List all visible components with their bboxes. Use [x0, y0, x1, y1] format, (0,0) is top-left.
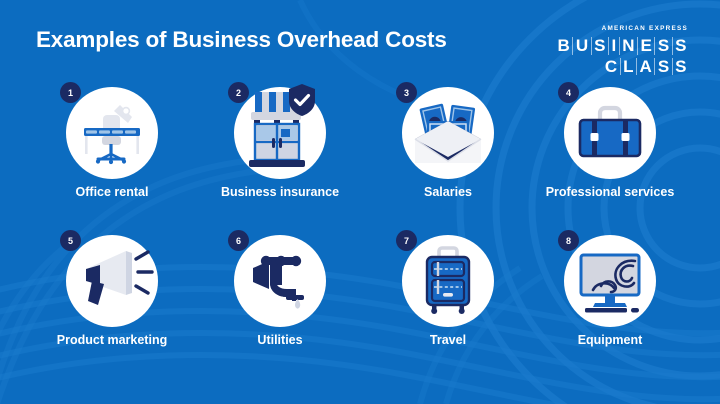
logo-letter: S: [654, 58, 671, 75]
logo-letter: B: [555, 37, 573, 54]
item-utilities: 6 Utilities: [190, 232, 370, 380]
item-label: Utilities: [190, 333, 370, 348]
item-label: Office rental: [22, 185, 202, 200]
logo-line-class: CLASS: [555, 58, 689, 75]
item-business-insurance: 2 Business insurance: [190, 84, 370, 232]
item-label: Professional services: [520, 185, 700, 200]
faucet-water-drop-icon: [234, 235, 326, 327]
items-row-2: 5 Product marketing: [0, 232, 720, 380]
megaphone-icon: [66, 235, 158, 327]
computer-monitor-icon: [564, 235, 656, 327]
item-equipment: 8 Equipment: [520, 232, 700, 380]
logo-letter: C: [602, 58, 620, 75]
item-label: Business insurance: [190, 185, 370, 200]
logo-letter: S: [591, 37, 608, 54]
logo-letter: U: [572, 37, 590, 54]
item-label: Product marketing: [22, 333, 202, 348]
item-number-badge: 3: [396, 82, 417, 103]
rolling-suitcase-icon: [402, 235, 494, 327]
logo-letter: S: [654, 37, 671, 54]
header: Examples of Business Overhead Costs AMER…: [0, 0, 720, 86]
item-travel: 7 Travel: [358, 232, 538, 380]
items-row-1: 1 Office rental: [0, 84, 720, 232]
item-number-badge: 6: [228, 230, 249, 251]
page-title: Examples of Business Overhead Costs: [36, 27, 447, 53]
item-label: Equipment: [520, 333, 700, 348]
envelope-cash-icon: [402, 87, 494, 179]
item-number-badge: 7: [396, 230, 417, 251]
logo-letter: E: [637, 37, 654, 54]
logo-letter: I: [608, 37, 619, 54]
item-professional-services: 4 Professional services: [520, 84, 700, 232]
overhead-cost-items-grid: 1 Office rental: [0, 84, 720, 380]
item-number-badge: 8: [558, 230, 579, 251]
item-product-marketing: 5 Product marketing: [22, 232, 202, 380]
item-office-rental: 1 Office rental: [22, 84, 202, 232]
storefront-shield-icon: [234, 87, 326, 179]
logo-letter: L: [620, 58, 636, 75]
american-express-business-class-logo: AMERICAN EXPRESS BUSINESS CLASS: [555, 26, 689, 75]
logo-letter: S: [672, 58, 689, 75]
logo-letter: S: [672, 37, 689, 54]
logo-letter: A: [636, 58, 654, 75]
briefcase-icon: [564, 87, 656, 179]
item-label: Travel: [358, 333, 538, 348]
item-label: Salaries: [358, 185, 538, 200]
item-number-badge: 2: [228, 82, 249, 103]
logo-eyebrow-american-express: AMERICAN EXPRESS: [555, 26, 688, 32]
item-number-badge: 1: [60, 82, 81, 103]
item-salaries: 3 Salaries: [358, 84, 538, 232]
office-desk-chair-icon: [66, 87, 158, 179]
item-number-badge: 4: [558, 82, 579, 103]
infographic-root: Examples of Business Overhead Costs AMER…: [0, 0, 720, 404]
logo-letter: N: [619, 37, 637, 54]
logo-line-business: BUSINESS: [555, 37, 689, 54]
item-number-badge: 5: [60, 230, 81, 251]
